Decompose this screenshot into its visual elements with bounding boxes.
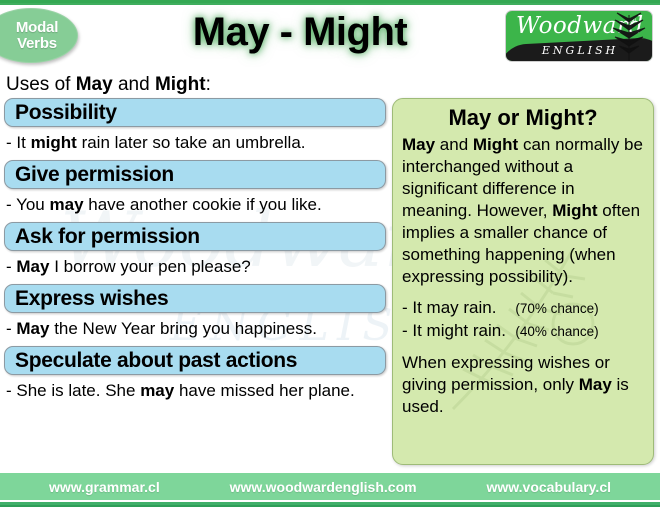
- footer-link-woodwardenglish[interactable]: www.woodwardenglish.com: [230, 479, 417, 495]
- use-heading-label: Ask for permission: [15, 225, 200, 249]
- badge-line-1: Modal: [16, 20, 58, 36]
- use-example: - She is late. She may have missed her p…: [4, 375, 386, 406]
- subtitle-bold-may: May: [76, 74, 113, 95]
- panel-title: May or Might?: [402, 105, 644, 131]
- panel-bold-may: May: [402, 135, 435, 154]
- example-suffix: have another cookie if you like.: [84, 195, 322, 214]
- footer-bar: www.grammar.cl www.woodwardenglish.com w…: [0, 473, 660, 500]
- subtitle-prefix: Uses of: [6, 74, 76, 95]
- panel-note: When expressing wishes or giving permiss…: [402, 352, 644, 418]
- panel-paragraph: May and Might can normally be interchang…: [402, 134, 644, 288]
- example-keyword: May: [16, 319, 49, 338]
- infographic-page: Modal Verbs May - Might Woodward ® ENGLI…: [0, 0, 660, 510]
- example-keyword: May: [16, 257, 49, 276]
- example-suffix: have missed her plane.: [174, 381, 355, 400]
- panel-example-may-text: - It may rain.: [402, 298, 496, 317]
- panel-example-might-chance: (40% chance): [515, 324, 598, 339]
- badge-line-2: Verbs: [17, 36, 57, 52]
- subtitle-bold-might: Might: [155, 74, 206, 95]
- footer-divider-inner: [0, 505, 660, 507]
- panel-example-may: - It may rain. (70% chance): [402, 297, 644, 320]
- use-heading-label: Possibility: [15, 101, 117, 125]
- example-suffix: rain later so take an umbrella.: [77, 133, 306, 152]
- uses-list: Possibility - It might rain later so tak…: [4, 98, 386, 408]
- use-example: - May I borrow your pen please?: [4, 251, 386, 282]
- example-prefix: - You: [6, 195, 50, 214]
- use-heading-express-wishes: Express wishes: [4, 284, 386, 313]
- logo-reflection-fade: [505, 63, 653, 85]
- example-prefix: - It: [6, 133, 31, 152]
- top-divider-inner: [0, 3, 660, 5]
- use-example: - May the New Year bring you happiness.: [4, 313, 386, 344]
- example-prefix: -: [6, 257, 16, 276]
- use-heading-possibility: Possibility: [4, 98, 386, 127]
- use-heading-speculate-about-past-actions: Speculate about past actions: [4, 346, 386, 375]
- may-or-might-panel: May or Might? May and Might can normally…: [392, 98, 654, 465]
- logo-card: Woodward ® ENGLISH: [505, 10, 653, 62]
- example-suffix: the New Year bring you happiness.: [49, 319, 316, 338]
- footer-links: www.grammar.cl www.woodwardenglish.com w…: [0, 479, 660, 495]
- subtitle-suffix: :: [206, 74, 211, 95]
- use-heading-ask-for-permission: Ask for permission: [4, 222, 386, 251]
- use-heading-give-permission: Give permission: [4, 160, 386, 189]
- use-block: Ask for permission - May I borrow your p…: [4, 222, 386, 282]
- example-prefix: -: [6, 319, 16, 338]
- use-example: - It might rain later so take an umbrell…: [4, 127, 386, 158]
- panel-note-bold-may: May: [579, 375, 612, 394]
- panel-bold-might-2: Might: [552, 201, 597, 220]
- footer-link-grammar[interactable]: www.grammar.cl: [49, 479, 160, 495]
- example-prefix: - She is late. She: [6, 381, 140, 400]
- woodward-english-logo: Woodward ® ENGLISH: [505, 10, 653, 85]
- footer-link-vocabulary[interactable]: www.vocabulary.cl: [487, 479, 612, 495]
- use-heading-label: Express wishes: [15, 287, 168, 311]
- example-keyword: may: [140, 381, 174, 400]
- subtitle-middle: and: [113, 74, 155, 95]
- example-keyword: may: [50, 195, 84, 214]
- panel-example-might-text: - It might rain.: [402, 321, 506, 340]
- example-suffix: I borrow your pen please?: [49, 257, 250, 276]
- use-heading-label: Speculate about past actions: [15, 349, 297, 373]
- use-block: Possibility - It might rain later so tak…: [4, 98, 386, 158]
- use-block: Express wishes - May the New Year bring …: [4, 284, 386, 344]
- use-example: - You may have another cookie if you lik…: [4, 189, 386, 220]
- example-keyword: might: [31, 133, 77, 152]
- use-heading-label: Give permission: [15, 163, 174, 187]
- use-block: Give permission - You may have another c…: [4, 160, 386, 220]
- panel-bold-might: Might: [473, 135, 518, 154]
- fern-leaf-icon: [608, 10, 650, 62]
- use-block: Speculate about past actions - She is la…: [4, 346, 386, 406]
- panel-example-might: - It might rain. (40% chance): [402, 320, 644, 343]
- panel-text-and: and: [435, 135, 473, 154]
- modal-verbs-badge: Modal Verbs: [0, 8, 78, 63]
- page-title: May - Might: [150, 10, 450, 55]
- panel-example-may-chance: (70% chance): [515, 301, 598, 316]
- page-subtitle: Uses of May and Might:: [6, 74, 211, 96]
